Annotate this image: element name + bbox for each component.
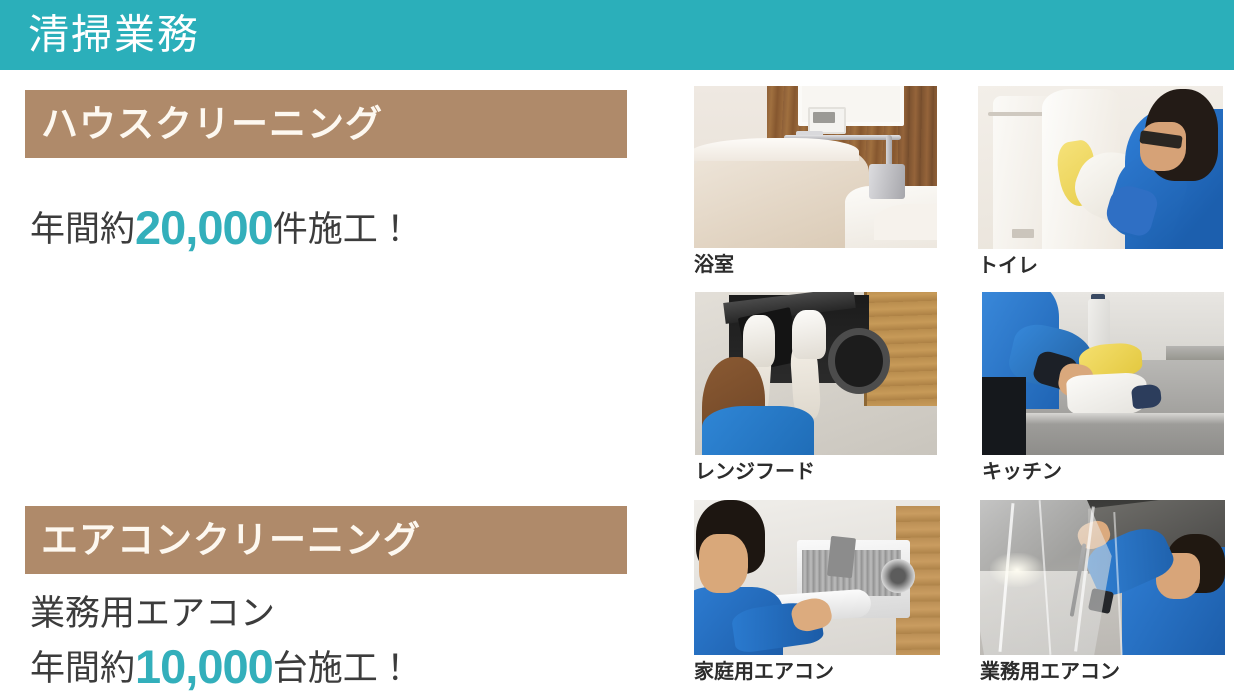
photo-caption-bathroom: 浴室 (694, 255, 937, 275)
section-bar-house-cleaning: ハウスクリーニング (25, 90, 627, 158)
aircon-stat-suffix: 台施工！ (273, 649, 413, 688)
photo-caption-home-aircon: 家庭用エアコン (694, 662, 940, 682)
photo-caption-kitchen: キッチン (982, 462, 1224, 482)
left-content-column: ハウスクリーニング 年間約20,000件施工！ エアコンクリーニング 業務用エア… (0, 70, 665, 692)
photo-cell-range-hood: レンジフード (695, 292, 937, 482)
commercial-aircon-scene (980, 500, 1225, 655)
commercial-air-conditioner-photo (980, 500, 1225, 655)
house-stat-suffix: 件施工！ (273, 210, 413, 249)
photo-cell-bathroom: 浴室 (694, 86, 937, 275)
aircon-stat-number: 10,000 (135, 640, 273, 692)
photo-caption-range-hood: レンジフード (695, 462, 937, 482)
range-hood-scene (695, 292, 937, 455)
photo-cell-commercial-aircon: 業務用エアコン (980, 500, 1225, 682)
photo-caption-toilet: トイレ (978, 256, 1223, 276)
photo-caption-commercial-aircon: 業務用エアコン (980, 662, 1225, 682)
page-header-bar: 清掃業務 (0, 0, 1234, 70)
section-bar-house-cleaning-label: ハウスクリーニング (41, 106, 383, 143)
house-stat-prefix: 年間約 (30, 210, 135, 249)
bathroom-scene (694, 86, 937, 248)
house-cleaning-stat: 年間約20,000件施工！ (30, 198, 413, 258)
photo-grid: 浴室 トイレ (690, 80, 1234, 692)
home-air-conditioner-photo (694, 500, 940, 655)
aircon-stat-prefix: 年間約 (30, 649, 135, 688)
slide-root: 清掃業務 ハウスクリーニング 年間約20,000件施工！ エアコンクリーニング … (0, 0, 1234, 692)
aircon-stat-line1: 業務用エアコン (30, 592, 413, 637)
photo-cell-toilet: トイレ (978, 86, 1223, 276)
kitchen-counter-cleaning-photo (982, 292, 1224, 455)
photo-cell-kitchen: キッチン (982, 292, 1224, 482)
bathroom-photo (694, 86, 937, 248)
aircon-cleaning-stat: 業務用エアコン 年間約10,000台施工！ (30, 592, 413, 692)
house-stat-number: 20,000 (135, 201, 273, 254)
aircon-stat-line2: 年間約10,000台施工！ (30, 637, 413, 692)
toilet-cleaning-photo (978, 86, 1223, 249)
section-bar-aircon-cleaning-label: エアコンクリーニング (41, 522, 421, 559)
toilet-scene (978, 86, 1223, 249)
kitchen-scene (982, 292, 1224, 455)
photo-cell-home-aircon: 家庭用エアコン (694, 500, 940, 682)
range-hood-cleaning-photo (695, 292, 937, 455)
section-bar-aircon-cleaning: エアコンクリーニング (25, 506, 627, 574)
home-aircon-scene (694, 500, 940, 655)
page-title: 清掃業務 (28, 15, 200, 56)
